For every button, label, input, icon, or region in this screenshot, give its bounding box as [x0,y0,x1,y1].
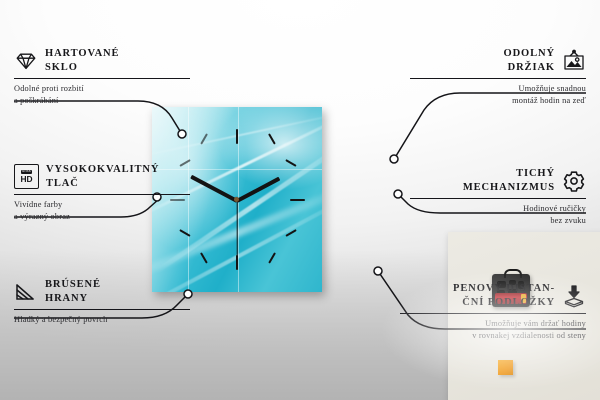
callout-title: TICHÝ MECHANIZMUS [463,167,555,195]
callout-title-line1: PENOVÝ DISTAN- [453,282,555,296]
clock-tick-3 [290,199,305,201]
callout-description: Umožňuje vám držať hodiny v rovnakej vzd… [400,318,586,342]
gear-icon [562,169,586,193]
callout-header: BRÚSENÉ HRANY [14,278,190,306]
callout-silent-mechanism: TICHÝ MECHANIZMUS Hodinové ručičky bez z… [410,167,586,226]
callout-desc-line2: montáž hodin na zeď [410,95,586,107]
callout-title-line2: MECHANIZMUS [463,181,555,195]
callout-rule [14,309,190,310]
foam-pad-arrow-icon [562,284,586,308]
callout-title-line2: TLAČ [46,177,159,191]
callout-header: PENOVÝ DISTAN- ČNÍ PODLOŽKY [400,282,586,310]
callout-title: PENOVÝ DISTAN- ČNÍ PODLOŽKY [453,282,555,310]
callout-desc-line1: Vivídne farby [14,199,190,211]
polished-edges-icon [14,280,38,304]
clock-tick-12 [236,129,238,144]
callout-title-line1: HARTOVANÉ [45,47,119,61]
callout-description: Umožňuje snadnou montáž hodin na zeď [410,83,586,107]
callout-title-line1: BRÚSENÉ [45,278,101,292]
callout-title-line2: DRŽIAK [504,61,556,75]
callout-desc-line1: Odolné proti rozbití [14,83,190,95]
callout-title-line1: TICHÝ [463,167,555,181]
callout-description: Hodinové ručičky bez zvuku [410,203,586,227]
callout-foam-pads: PENOVÝ DISTAN- ČNÍ PODLOŽKY Umožňuje vám… [400,282,586,341]
callout-title: HARTOVANÉ SKLO [45,47,119,75]
callout-desc-line2: v rovnakej vzdialenosti od steny [400,330,586,342]
foam-distance-pad [498,360,513,375]
callout-rule [14,194,190,195]
promo-infographic: HARTOVANÉ SKLO Odolné proti rozbití a po… [0,0,600,400]
movement-hanger-hook [504,269,522,278]
callout-desc-line2: bez zvuku [410,215,586,227]
clock-center-pin [234,197,239,202]
callout-title-line2: HRANY [45,292,101,306]
callout-polished-edges: BRÚSENÉ HRANY Hladký a bezpečný povrch [14,278,190,326]
callout-header: ultra HD VYSOKOKVALITNÝ TLAČ [14,163,190,191]
second-hand [236,201,237,261]
callout-description: Vivídne farby a výrazný obraz [14,199,190,223]
callout-rule [410,198,586,199]
callout-title-line1: VYSOKOKVALITNÝ [46,163,159,177]
callout-rule [14,78,190,79]
callout-title-line1: ODOLNÝ [504,47,556,61]
picture-frame-hanger-icon [562,49,586,73]
callout-desc-line1: Umožňuje vám držať hodiny [400,318,586,330]
ultra-hd-icon: ultra HD [14,164,39,189]
callout-desc-line1: Hodinové ručičky [410,203,586,215]
callout-high-quality-print: ultra HD VYSOKOKVALITNÝ TLAČ Vivídne far… [14,163,190,222]
callout-rule [410,78,586,79]
callout-description: Odolné proti rozbití a poškrábání [14,83,190,107]
hd-label: HD [20,175,32,183]
callout-title-line2: ČNÍ PODLOŽKY [453,296,555,310]
callout-desc-line1: Umožňuje snadnou [410,83,586,95]
callout-title: BRÚSENÉ HRANY [45,278,101,306]
callout-rule [400,313,586,314]
callout-tempered-glass: HARTOVANÉ SKLO Odolné proti rozbití a po… [14,47,190,106]
callout-header: ODOLNÝ DRŽIAK [410,47,586,75]
callout-desc-line2: a poškrábání [14,95,190,107]
diamond-icon [14,49,38,73]
callout-durable-hanger: ODOLNÝ DRŽIAK Umožňuje snadnou montáž ho… [410,47,586,106]
callout-title-line2: SKLO [45,61,119,75]
callout-description: Hladký a bezpečný povrch [14,314,190,326]
callout-desc-line1: Hladký a bezpečný povrch [14,314,190,326]
callout-header: TICHÝ MECHANIZMUS [410,167,586,195]
callout-desc-line2: a výrazný obraz [14,211,190,223]
callout-title: VYSOKOKVALITNÝ TLAČ [46,163,159,191]
callout-title: ODOLNÝ DRŽIAK [504,47,556,75]
callout-header: HARTOVANÉ SKLO [14,47,190,75]
